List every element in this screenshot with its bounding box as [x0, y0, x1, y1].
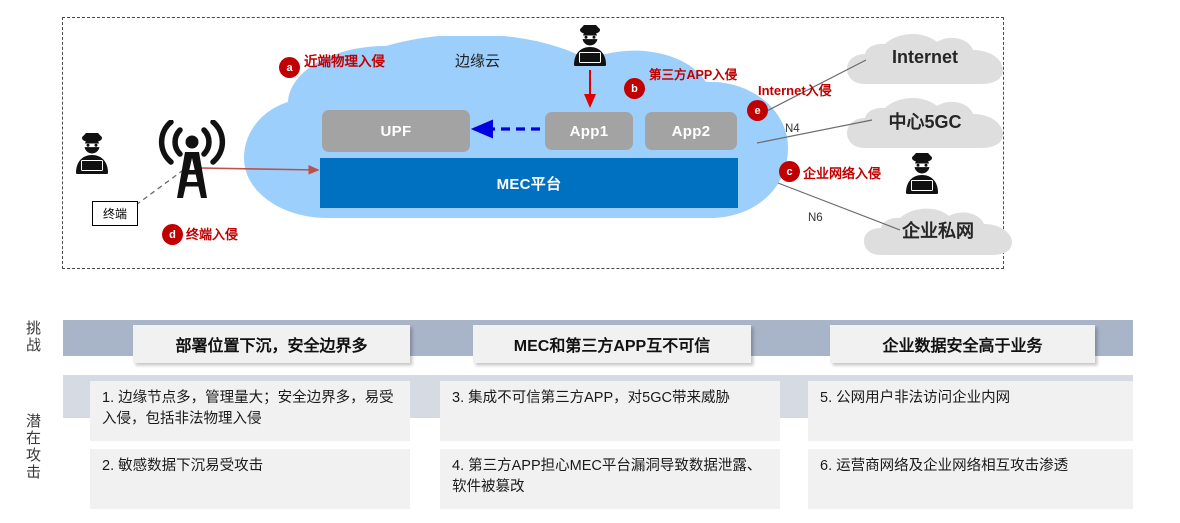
app1-label: App1 [570, 123, 609, 140]
mec-platform-label: MEC平台 [497, 173, 562, 194]
hacker-icon [568, 25, 612, 67]
attack-badge-c[interactable]: c [779, 161, 800, 182]
terminal-box[interactable]: 终端 [92, 201, 138, 226]
slide-root: 边缘云 UPF App1 App2 MEC平台 Internet 中心5GC 企… [0, 0, 1180, 523]
attack-badge-e-letter: e [754, 105, 760, 117]
app2-label: App2 [672, 123, 711, 140]
table-cell: 3. 集成不可信第三方APP，对5GC带来威胁 [440, 381, 780, 441]
app1-node[interactable]: App1 [545, 112, 633, 150]
table-cell: 6. 运营商网络及企业网络相互攻击渗透 [808, 449, 1133, 509]
attack-badge-a[interactable]: a [279, 57, 300, 78]
table-header-3-label: 企业数据安全高于业务 [882, 332, 1042, 356]
core-5gc-cloud: 中心5GC [845, 96, 1005, 150]
hacker-icon [70, 133, 114, 175]
attack-label-a: 近端物理入侵 [304, 50, 385, 70]
row-label-challenge: 挑战 [14, 312, 40, 362]
attack-label-c: 企业网络入侵 [803, 163, 881, 182]
table-header-1: 部署位置下沉，安全边界多 [133, 325, 410, 363]
mec-platform-node[interactable]: MEC平台 [320, 158, 738, 208]
upf-node[interactable]: UPF [322, 110, 470, 152]
app2-node[interactable]: App2 [645, 112, 737, 150]
attack-badge-c-letter: c [786, 166, 792, 178]
table-header-3: 企业数据安全高于业务 [830, 325, 1095, 363]
table-cell: 1. 边缘节点多，管理量大；安全边界多，易受入侵，包括非法物理入侵 [90, 381, 410, 441]
attack-label-b: 第三方APP入侵 [649, 64, 737, 83]
attack-badge-a-letter: a [286, 62, 292, 74]
hacker-icon [900, 153, 944, 195]
upf-label: UPF [381, 123, 412, 140]
terminal-label: 终端 [103, 205, 127, 222]
attack-badge-d-letter: d [169, 229, 176, 241]
edge-cloud-label: 边缘云 [455, 50, 500, 71]
attack-label-e: Internet入侵 [758, 80, 832, 99]
attack-badge-d[interactable]: d [162, 224, 183, 245]
n4-interface-label: N4 [785, 123, 800, 135]
table-cell: 2. 敏感数据下沉易受攻击 [90, 449, 410, 509]
internet-cloud: Internet [845, 32, 1005, 86]
enterprise-private-network-cloud: 企业私网 [862, 207, 1014, 257]
row-label-potential-attack: 潜在攻击 [14, 392, 40, 502]
table-cell: 4. 第三方APP担心MEC平台漏洞导致数据泄露、软件被篡改 [440, 449, 780, 509]
n6-interface-label: N6 [808, 212, 823, 224]
core-5gc-cloud-label: 中心5GC [845, 96, 1005, 150]
attack-label-d: 终端入侵 [186, 224, 238, 243]
attack-badge-e[interactable]: e [747, 100, 768, 121]
table-header-2: MEC和第三方APP互不可信 [473, 325, 751, 363]
attack-badge-b-letter: b [631, 83, 638, 95]
table-header-2-label: MEC和第三方APP互不可信 [514, 332, 710, 356]
cell-tower-icon [155, 120, 229, 200]
attack-badge-b[interactable]: b [624, 78, 645, 99]
table-header-1-label: 部署位置下沉，安全边界多 [175, 332, 367, 356]
enterprise-private-network-cloud-label: 企业私网 [862, 207, 1014, 257]
table-cell: 5. 公网用户非法访问企业内网 [808, 381, 1133, 441]
internet-cloud-label: Internet [845, 32, 1005, 86]
